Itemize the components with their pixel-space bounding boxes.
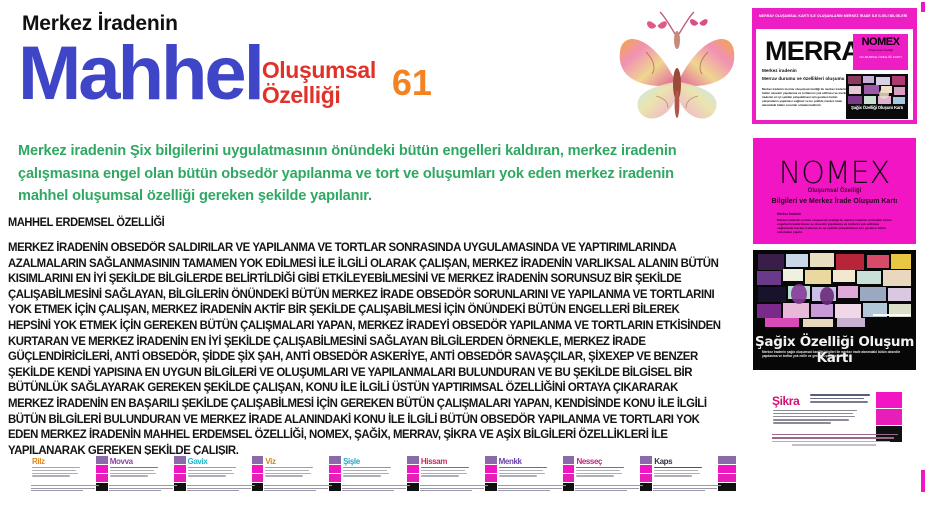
sikra-title: Şikra — [772, 394, 799, 408]
thumbnail-line — [654, 475, 692, 476]
thumbnail-line — [110, 467, 158, 468]
thumbnail-card[interactable]: Gavix — [186, 455, 272, 503]
thumbnail-footer-line — [187, 488, 251, 489]
thumbnail-card[interactable]: Hissam — [419, 455, 505, 503]
thumbnail-label: Movva — [110, 457, 133, 466]
thumbnail-label: Viz — [265, 457, 275, 466]
mini-butterfly-icon — [690, 19, 708, 26]
thumbnail-chip — [718, 474, 736, 482]
thumbnail-footer-lines — [653, 485, 723, 493]
thumbnail-text-lines — [576, 467, 626, 478]
thumbnail-card[interactable]: Menkk — [497, 455, 583, 503]
nomex-card-title: NOMEX — [753, 156, 916, 191]
thumbnail-line — [654, 467, 702, 468]
nomex-card-line2: Bilgileri ve Merkez İrade Oluşum Kartı — [753, 198, 916, 205]
merrav-photo-collage — [846, 74, 908, 119]
poster-root: Merkez İradenin MahhelOluşumsalÖzelliği6… — [0, 0, 925, 527]
thumbnail-line — [343, 470, 387, 471]
thumbnail-line — [576, 467, 624, 468]
sikra-thumb — [876, 409, 902, 425]
sagix-card-paragraph: Merkez iradenin şağix oluşumsal özelliği… — [762, 350, 908, 358]
thumbnail-line — [343, 475, 381, 476]
thumbnail-chip — [718, 465, 736, 473]
section-heading: MAHHEL ERDEMSEL ÖZELLİĞİ — [8, 215, 164, 229]
sikra-body-line — [773, 416, 855, 417]
thumbnail-line — [188, 467, 236, 468]
thumbnail-footer-line — [653, 488, 717, 489]
thumbnail-text-lines — [32, 467, 82, 478]
nomex-card-paragraph: Merkez iradenin nomex oluşumsal özelliği… — [777, 218, 895, 234]
thumbnail-footer-lines — [342, 485, 412, 493]
edge-accent-mark — [921, 470, 925, 492]
thumbnail-line — [110, 475, 148, 476]
butterfly-icon — [612, 4, 742, 130]
nomex-card-small: Merkez İradenin — [777, 212, 801, 216]
thumbnail-line — [110, 470, 154, 471]
title-main-word: Mahhel — [18, 38, 262, 110]
merrav-banner: MERRAV OLUŞUMSAL KARTI İLE OLUŞANLARIN M… — [756, 12, 913, 29]
butterfly-svg — [612, 4, 742, 130]
thumbnail-text-lines — [110, 467, 160, 478]
sikra-footer-lines — [772, 434, 902, 448]
nomex-card[interactable]: NOMEX Oluşumsal Özelliği Bilgileri ve Me… — [753, 138, 916, 244]
thumbnail-footer-line — [342, 490, 394, 491]
thumbnail-footer-lines — [264, 485, 334, 493]
thumbnail-line — [499, 475, 537, 476]
thumbnail-footer-line — [31, 488, 95, 489]
merrav-photo-caption: Şağix Özelliği Oluşum Kartı — [848, 105, 906, 110]
thumbnail-text-lines — [499, 467, 549, 478]
thumbnail-line — [32, 470, 76, 471]
nomex-chip-title: NOMEX — [853, 36, 908, 48]
thumbnail-line — [421, 467, 469, 468]
thumbnail-line — [499, 473, 545, 474]
title-subtitle-line1: Oluşumsal — [262, 57, 376, 83]
sikra-body-line — [773, 413, 853, 414]
sikra-line — [810, 394, 870, 396]
thumbnail-line — [421, 470, 465, 471]
thumbnail-line — [265, 467, 313, 468]
thumbnail-footer-line — [187, 490, 239, 491]
thumbnail-label: Kaps — [654, 457, 672, 466]
thumbnail-footer-lines — [109, 485, 179, 493]
merrav-subtitle-1: Merkez iradenin — [762, 68, 797, 73]
thumbnail-line — [265, 475, 303, 476]
merrav-card[interactable]: MERRAV OLUŞUMSAL KARTI İLE OLUŞANLARIN M… — [752, 8, 917, 124]
sikra-paragraph-lines — [773, 410, 857, 425]
thumbnail-footer-line — [264, 488, 328, 489]
thumbnail-footer-line — [264, 485, 332, 486]
thumbnail-line — [343, 467, 391, 468]
sikra-footer-line — [772, 441, 890, 442]
thumbnail-footer-lines — [498, 485, 568, 493]
thumbnail-text-lines — [265, 467, 315, 478]
sikra-body-line — [773, 410, 857, 411]
thumbnail-footer-lines — [575, 485, 645, 493]
thumbnail-footer-line — [420, 488, 484, 489]
thumbnail-footer-line — [342, 488, 406, 489]
thumbnail-label: Rilz — [32, 457, 45, 466]
title-subtitle: OluşumsalÖzelliği — [262, 58, 376, 108]
thumbnail-card[interactable]: Movva — [108, 455, 194, 503]
thumbnail-chip — [718, 456, 736, 464]
mini-butterfly-icon — [647, 21, 667, 28]
thumbnail-line — [32, 473, 78, 474]
page-title: MahhelOluşumsalÖzelliği61 — [18, 38, 432, 110]
bottom-thumbnail-strip: RilzMovvaGavixVizŞişleHissamMenkkNesseçK… — [30, 455, 730, 515]
thumbnail-line — [265, 473, 311, 474]
thumbnail-footer-line — [420, 485, 488, 486]
thumbnail-footer-line — [187, 485, 255, 486]
right-sidebar-column: MERRAV OLUŞUMSAL KARTI İLE OLUŞANLARIN M… — [748, 0, 925, 527]
sikra-headline-lines — [810, 394, 872, 405]
thumbnail-footer-line — [498, 490, 550, 491]
thumbnail-footer-line — [264, 490, 316, 491]
thumbnail-footer-line — [420, 490, 472, 491]
merrav-card-inner: MERRAV OLUŞUMSAL KARTI İLE OLUŞANLARIN M… — [755, 11, 914, 121]
thumbnail-footer-lines — [420, 485, 490, 493]
thumbnail-line — [499, 467, 547, 468]
thumbnail-footer-line — [31, 490, 83, 491]
sikra-thumb — [876, 392, 902, 408]
thumbnail-text-lines — [421, 467, 471, 478]
thumbnail-footer-line — [575, 488, 639, 489]
thumbnail-footer-line — [109, 490, 161, 491]
thumbnail-footer-line — [653, 490, 705, 491]
thumbnail-line — [343, 473, 389, 474]
thumbnail-label: Gavix — [188, 457, 208, 466]
thumbnail-line — [499, 470, 543, 471]
thumbnail-footer-line — [109, 488, 173, 489]
sagix-card[interactable]: Şağix Özelliği Oluşum Kartı Merkez irade… — [753, 250, 916, 370]
thumbnail-footer-line — [342, 485, 410, 486]
nomex-card-line1: Oluşumsal Özelliği — [753, 188, 916, 194]
edge-accent-mark — [921, 2, 925, 12]
thumbnail-line — [421, 475, 459, 476]
thumbnail-label: Menkk — [499, 457, 522, 466]
thumbnail-line — [188, 470, 232, 471]
thumbnail-footer-line — [575, 485, 643, 486]
nomex-chip-subtitle: Oluşumsal Özelliği — [853, 48, 908, 52]
sikra-footer-line — [772, 437, 894, 438]
thumbnail-footer-line — [498, 485, 566, 486]
thumbnail-line — [188, 475, 226, 476]
thumbnail-line — [576, 475, 614, 476]
merrav-body-text: Merkez iradenin merrav oluşumsal özelliğ… — [762, 88, 854, 108]
sikra-footer-line — [792, 444, 876, 445]
sagix-collage — [755, 252, 914, 330]
thumbnail-card[interactable]: Viz — [263, 455, 349, 503]
thumbnail-text-lines — [188, 467, 238, 478]
body-paragraph: MERKEZ İRADENİN OBSEDÖR SALDIRILAR VE YA… — [8, 240, 723, 458]
title-subtitle-line2: Özelliği — [262, 82, 341, 108]
thumbnail-footer-line — [498, 488, 562, 489]
thumbnail-card[interactable]: Rilz — [30, 455, 116, 503]
thumbnail-line — [188, 473, 234, 474]
thumbnail-card[interactable]: Şişle — [341, 455, 427, 503]
sikra-card[interactable]: Şikra — [772, 392, 902, 452]
thumbnail-line — [576, 473, 622, 474]
thumbnail-card[interactable]: Nesseç — [574, 455, 660, 503]
thumbnail-line — [421, 473, 467, 474]
thumbnail-label: Hissam — [421, 457, 447, 466]
sikra-body-line — [773, 419, 849, 420]
thumbnail-text-lines — [654, 467, 704, 478]
thumbnail-label: Şişle — [343, 457, 360, 466]
thumbnail-line — [110, 473, 156, 474]
thumbnail-footer-line — [109, 485, 177, 486]
thumbnail-line — [654, 470, 698, 471]
merrav-photo-thumbnail[interactable]: Şağix Özelliği Oluşum Kartı — [846, 74, 908, 119]
thumbnail-footer-lines — [187, 485, 257, 493]
sagix-collage-svg — [755, 252, 914, 330]
nomex-chip[interactable]: NOMEX Oluşumsal Özelliği OLUŞUMSAL ÖZELL… — [853, 34, 908, 70]
thumbnail-label: Nesseç — [576, 457, 602, 466]
lead-paragraph: Merkez iradenin Şix bilgilerini uygulatm… — [18, 140, 718, 208]
sikra-footer-line — [772, 434, 898, 435]
thumbnail-line — [265, 470, 309, 471]
thumbnail-line — [576, 470, 620, 471]
thumbnail-line — [32, 467, 80, 468]
thumbnail-line — [32, 475, 70, 476]
sikra-body-line — [773, 422, 831, 423]
thumbnail-footer-lines — [31, 485, 101, 493]
thumbnail-card[interactable]: Kaps — [652, 455, 738, 503]
thumbnail-text-lines — [343, 467, 393, 478]
thumbnail-footer-line — [653, 485, 721, 486]
sikra-line — [810, 398, 864, 400]
thumbnail-footer-line — [575, 490, 627, 491]
issue-number: 61 — [392, 64, 432, 102]
thumbnail-line — [654, 473, 700, 474]
nomex-chip-body: OLUŞUMSAL ÖZELLİĞİ KARTI — [853, 55, 908, 59]
thumbnail-footer-line — [31, 485, 99, 486]
sikra-line — [810, 401, 868, 403]
